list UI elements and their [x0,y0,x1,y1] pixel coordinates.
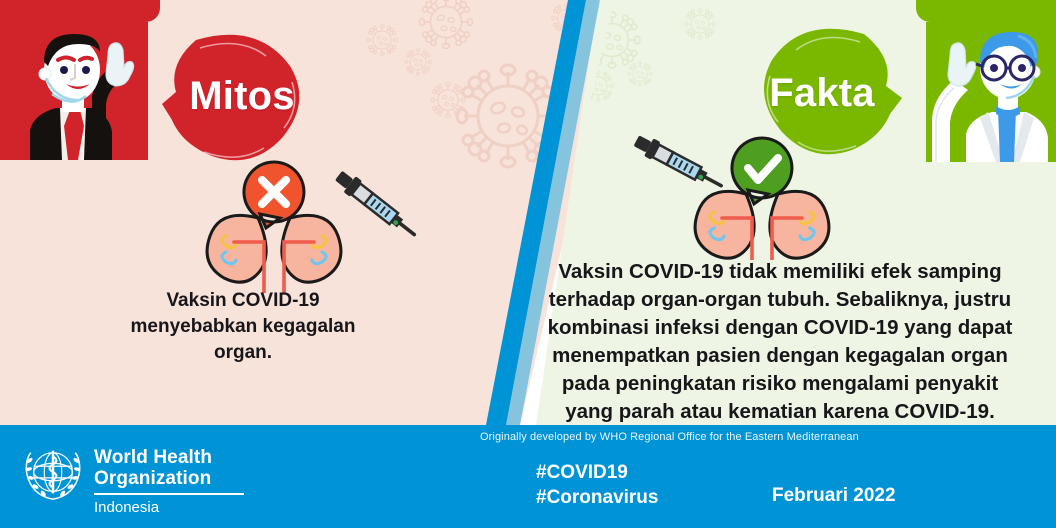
syringe-icon [332,168,420,243]
fact-badge-label: Fakta [769,71,875,116]
myth-badge-label: Mitos [189,74,294,119]
syringe-icon [632,132,726,195]
who-name-line1: World Health [94,447,244,468]
fact-body-text: Vaksin COVID-19 tidak memiliki efek samp… [540,258,1020,426]
fact-character-panel [926,22,1056,162]
myth-kidneys-illustration [198,158,428,293]
myth-body-text: Vaksin COVID-19 menyebabkan kegagalan or… [118,288,368,366]
hashtag-coronavirus: #Coronavirus [536,485,658,510]
credit-line: Originally developed by WHO Regional Off… [480,431,859,443]
publication-date: Februari 2022 [772,485,896,507]
hashtag-covid19: #COVID19 [536,460,658,485]
fact-kidneys-illustration [624,112,854,260]
footer-bar: World Health Organization Indonesia Orig… [0,425,1056,528]
pointing-doctor-icon [926,22,1056,162]
myth-speech-bubble: Mitos [160,28,308,168]
myth-top-tab [0,0,160,22]
who-emblem-icon [22,443,84,505]
who-logo-rule [94,493,244,495]
who-logo: World Health Organization Indonesia [22,443,244,516]
who-country-label: Indonesia [94,499,244,516]
pointing-man-icon [0,22,148,160]
who-name-line2: Organization [94,468,244,489]
myth-character-panel [0,22,148,160]
fact-top-tab [916,0,1056,22]
hashtag-block: #COVID19 #Coronavirus [536,460,658,510]
infographic-poster: Mitos [0,0,1056,528]
